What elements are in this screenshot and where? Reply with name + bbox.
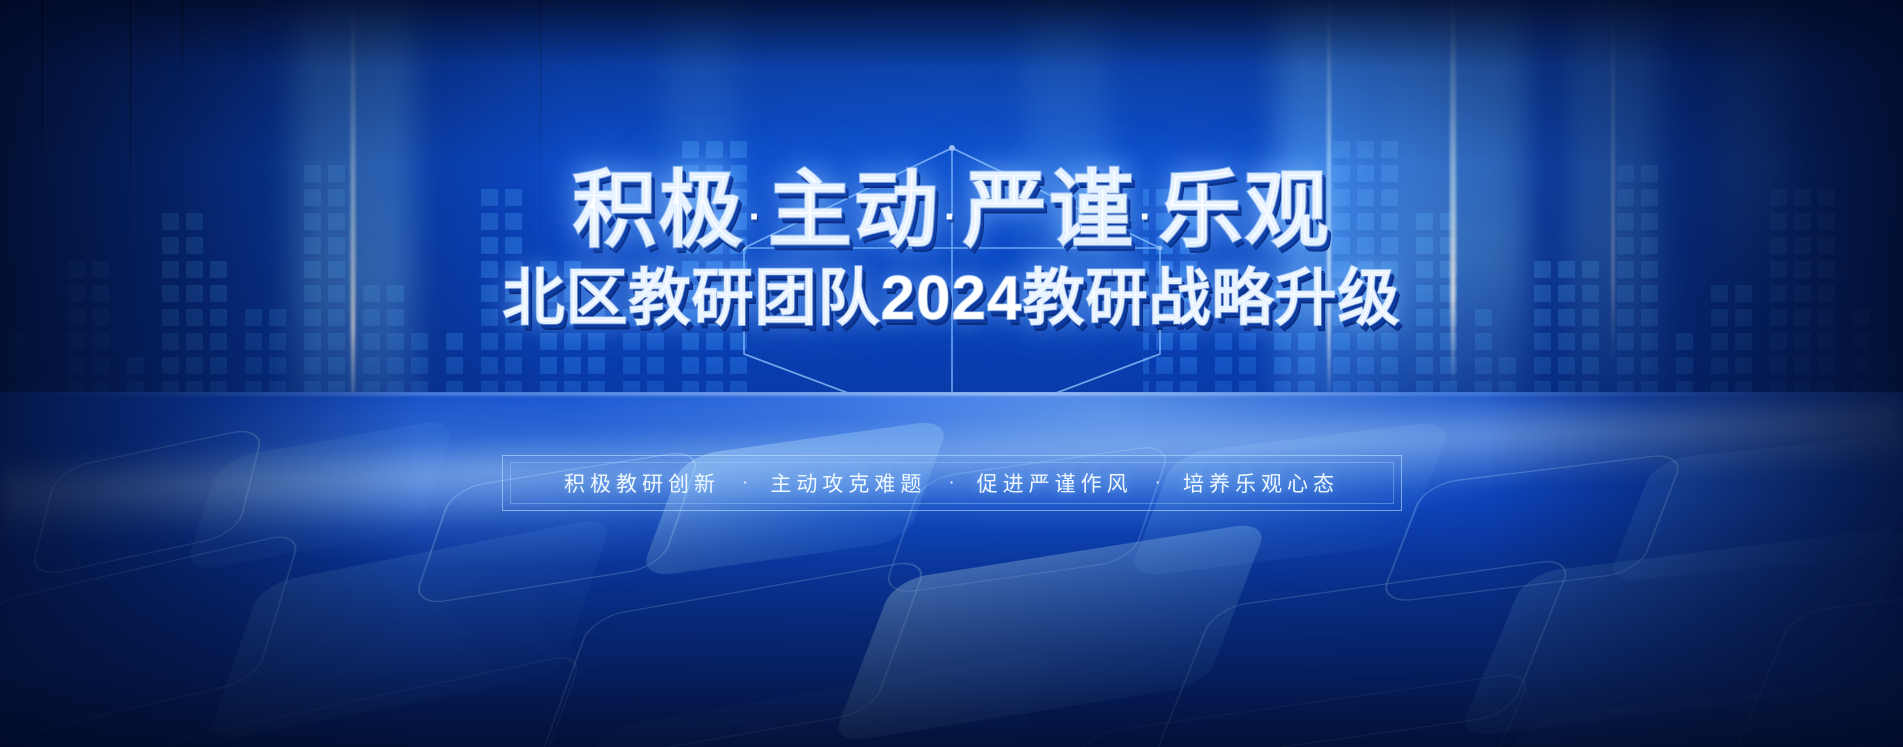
banner-subheadline: 北区教研团队2024教研战略升级 (503, 268, 1401, 330)
tagline-item: 积极教研创新 (564, 468, 720, 498)
headline-separator: · (944, 195, 959, 239)
headline-separator: · (748, 195, 763, 239)
headline-word: 主动 (768, 163, 940, 257)
banner-content: 积极·主动·严谨·乐观 北区教研团队2024教研战略升级 (0, 0, 1903, 747)
headline-word: 积极 (572, 163, 744, 257)
headline-word: 严谨 (963, 163, 1135, 257)
tagline-separator: · (948, 472, 954, 494)
headline-word: 乐观 (1159, 163, 1331, 257)
promo-banner: 积极·主动·严谨·乐观 北区教研团队2024教研战略升级 积极教研创新·主动攻克… (0, 0, 1903, 747)
tagline-item: 培养乐观心态 (1183, 468, 1339, 498)
tagline-text: 积极教研创新·主动攻克难题·促进严谨作风·培养乐观心态 (502, 455, 1402, 511)
headline-separator: · (1139, 195, 1154, 239)
tagline-separator: · (742, 472, 748, 494)
tagline-item: 主动攻克难题 (770, 468, 926, 498)
tagline-item: 促进严谨作风 (977, 468, 1133, 498)
banner-headline: 积极·主动·严谨·乐观 (572, 168, 1330, 252)
tagline-panel: 积极教研创新·主动攻克难题·促进严谨作风·培养乐观心态 (502, 455, 1402, 511)
tagline-separator: · (1155, 472, 1161, 494)
